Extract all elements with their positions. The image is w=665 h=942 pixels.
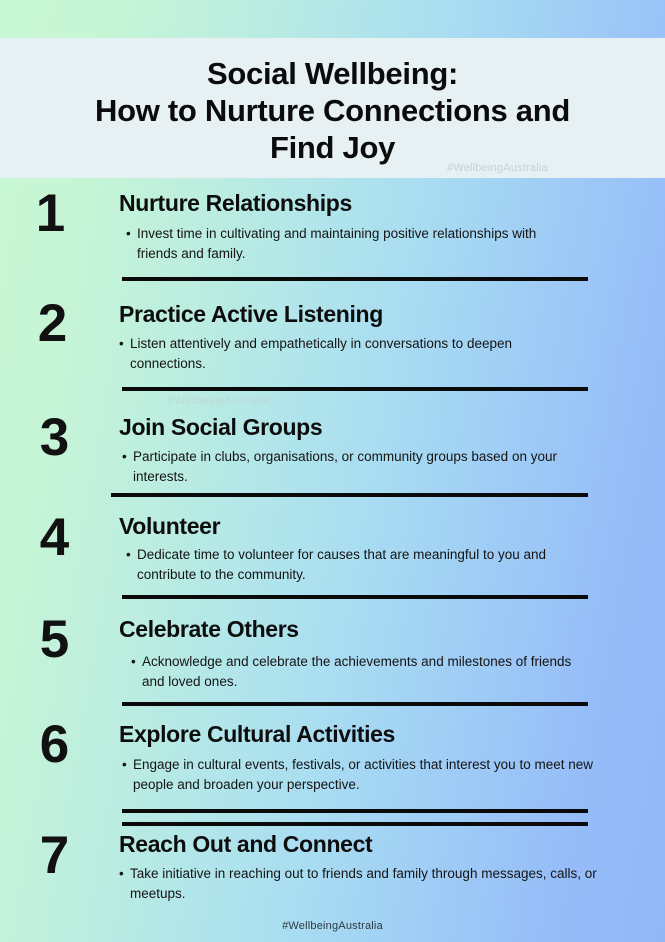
item-bullet-text: Dedicate time to volunteer for causes th… — [137, 545, 582, 584]
bullet-dot-icon: • — [119, 864, 130, 884]
item-divider — [111, 493, 588, 497]
item-divider — [122, 822, 588, 826]
item-bullet-text: Acknowledge and celebrate the achievemen… — [142, 652, 593, 691]
item-divider — [122, 277, 588, 281]
page-title: Social Wellbeing: How to Nurture Connect… — [0, 55, 665, 166]
bullet-dot-icon: • — [126, 545, 137, 565]
bullet-dot-icon: • — [122, 447, 133, 467]
item-bullet: • Participate in clubs, organisations, o… — [122, 447, 588, 486]
watermark-footer: #WellbeingAustralia — [0, 920, 665, 932]
watermark-middle: #WellbeingAustralia — [168, 395, 269, 407]
item-bullet-text: Participate in clubs, organisations, or … — [133, 447, 588, 486]
item-bullet-text: Engage in cultural events, festivals, or… — [133, 755, 630, 794]
item-bullet-text: Invest time in cultivating and maintaini… — [137, 224, 570, 263]
bullet-dot-icon: • — [119, 334, 130, 354]
item-bullet: • Invest time in cultivating and maintai… — [126, 224, 570, 263]
item-heading: Nurture Relationships — [119, 190, 352, 217]
item-divider — [122, 702, 588, 706]
item-number: 7 — [18, 828, 90, 884]
item-bullet-text: Listen attentively and empathetically in… — [130, 334, 575, 373]
item-heading: Volunteer — [119, 513, 220, 540]
item-number: 3 — [18, 410, 90, 466]
item-bullet-text: Take initiative in reaching out to frien… — [130, 864, 613, 903]
item-heading: Practice Active Listening — [119, 301, 383, 328]
item-number: 2 — [16, 296, 88, 352]
item-heading: Explore Cultural Activities — [119, 721, 395, 748]
item-bullet: • Engage in cultural events, festivals, … — [122, 755, 630, 794]
item-number: 6 — [18, 717, 90, 773]
item-bullet: • Dedicate time to volunteer for causes … — [126, 545, 582, 584]
item-number: 5 — [18, 612, 90, 668]
bullet-dot-icon: • — [126, 224, 137, 244]
watermark-header: #WellbeingAustralia — [447, 162, 548, 174]
item-divider — [122, 387, 588, 391]
item-bullet: • Take initiative in reaching out to fri… — [119, 864, 613, 903]
item-heading: Join Social Groups — [119, 414, 322, 441]
item-heading: Celebrate Others — [119, 616, 299, 643]
header-band: Social Wellbeing: How to Nurture Connect… — [0, 38, 665, 178]
item-bullet: • Acknowledge and celebrate the achievem… — [131, 652, 593, 691]
bullet-dot-icon: • — [131, 652, 142, 672]
bullet-dot-icon: • — [122, 755, 133, 775]
item-number: 1 — [14, 186, 86, 242]
item-divider — [122, 809, 588, 813]
item-heading: Reach Out and Connect — [119, 831, 372, 858]
item-number: 4 — [18, 510, 90, 566]
item-bullet: • Listen attentively and empathetically … — [119, 334, 575, 373]
infographic-poster: Social Wellbeing: How to Nurture Connect… — [0, 0, 665, 942]
item-divider — [122, 595, 588, 599]
